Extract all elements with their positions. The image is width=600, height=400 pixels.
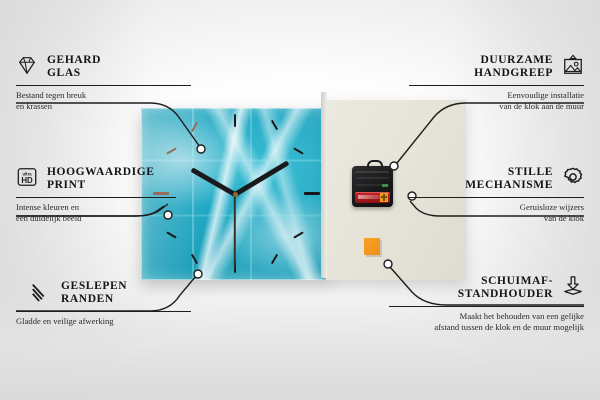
- callout-head: STILLE MECHANISME: [409, 166, 584, 192]
- callout-title-line1: SCHUIMAF-: [458, 275, 553, 288]
- callout-title: GESLEPEN RANDEN: [61, 280, 127, 306]
- callout-title-line2: RANDEN: [61, 293, 127, 306]
- callout-title-line2: GLAS: [47, 67, 101, 80]
- callout-sub-line2: van de klok aan de muur: [409, 101, 584, 112]
- diamond-icon: [16, 54, 38, 76]
- callout-head: GEHARD GLAS: [16, 54, 191, 80]
- callout-head: ultra HD HOOGWAARDIGE PRINT: [16, 166, 176, 192]
- callout-sub-line1: Bestand tegen breuk: [16, 90, 191, 101]
- callout-sub-line1: Maakt het behouden van een gelijke: [389, 311, 584, 322]
- callout-duurzame-handgreep[interactable]: DUURZAME HANDGREEP Eenvoudige installati…: [409, 54, 584, 111]
- callout-geslepen-randen[interactable]: GESLEPEN RANDEN Gladde en veilige afwerk…: [16, 280, 191, 327]
- callout-title-line1: DUURZAME: [474, 54, 553, 67]
- callout-sub-line1: Geruisloze wijzers: [409, 202, 584, 213]
- callout-sub-line1: Eenvoudige installatie: [409, 90, 584, 101]
- ultra-hd-icon: ultra HD: [16, 166, 38, 188]
- callout-sub-line2: afstand tussen de klok en de muur mogeli…: [389, 322, 584, 333]
- picture-hanger-icon: [562, 54, 584, 76]
- callout-title-line1: HOOGWAARDIGE: [47, 166, 155, 179]
- callout-sub-line2: van de klok: [409, 213, 584, 224]
- foam-spacer: [364, 238, 380, 255]
- callout-title: HOOGWAARDIGE PRINT: [47, 166, 155, 192]
- battery-plus-terminal: [380, 193, 388, 202]
- callout-title-line2: PRINT: [47, 179, 155, 192]
- battery: [355, 192, 390, 203]
- svg-text:HD: HD: [21, 176, 33, 185]
- callout-rule: [409, 85, 584, 86]
- callout-head: SCHUIMAF- STANDHOUDER: [389, 275, 584, 301]
- callout-gehard-glas[interactable]: GEHARD GLAS Bestand tegen breuk en krass…: [16, 54, 191, 111]
- callout-head: DUURZAME HANDGREEP: [409, 54, 584, 80]
- callout-sub-line1: Gladde en veilige afwerking: [16, 316, 191, 327]
- callout-title-line1: GEHARD: [47, 54, 101, 67]
- spacer-arrow-icon: [562, 275, 584, 297]
- callout-sub-line2: en krassen: [16, 101, 191, 112]
- callout-schuimafstandhouder[interactable]: SCHUIMAF- STANDHOUDER Maakt het behouden…: [389, 275, 584, 332]
- product-infographic: GEHARD GLAS Bestand tegen breuk en krass…: [0, 0, 600, 400]
- callout-title: STILLE MECHANISME: [465, 166, 553, 192]
- clock-hanger-hook: [367, 160, 383, 170]
- callout-hoogwaardige-print[interactable]: ultra HD HOOGWAARDIGE PRINT Intense kleu…: [16, 166, 176, 223]
- clock-back-side-edge: [321, 92, 327, 278]
- movement-green-marker: [382, 184, 388, 187]
- callout-rule: [16, 197, 176, 198]
- callout-title-line2: MECHANISME: [465, 179, 553, 192]
- callout-rule: [16, 311, 191, 312]
- callout-title-line1: GESLEPEN: [61, 280, 127, 293]
- callout-title-line1: STILLE: [465, 166, 553, 179]
- callout-rule: [16, 85, 191, 86]
- gear-icon: [562, 166, 584, 188]
- callout-title-line2: STANDHOUDER: [458, 288, 553, 301]
- callout-stille-mechanisme[interactable]: STILLE MECHANISME Geruisloze wijzers van…: [409, 166, 584, 223]
- battery-label: [358, 195, 380, 199]
- clock-movement-box: [352, 166, 393, 207]
- callout-title: SCHUIMAF- STANDHOUDER: [458, 275, 553, 301]
- beveled-edges-icon: [30, 280, 52, 302]
- callout-title-line2: HANDGREEP: [474, 67, 553, 80]
- callout-sub-line2: een duidelijk beeld: [16, 213, 176, 224]
- callout-title: GEHARD GLAS: [47, 54, 101, 80]
- callout-sub-line1: Intense kleuren en: [16, 202, 176, 213]
- callout-rule: [409, 197, 584, 198]
- callout-head: GESLEPEN RANDEN: [16, 280, 191, 306]
- callout-title: DUURZAME HANDGREEP: [474, 54, 553, 80]
- callout-rule: [389, 306, 584, 307]
